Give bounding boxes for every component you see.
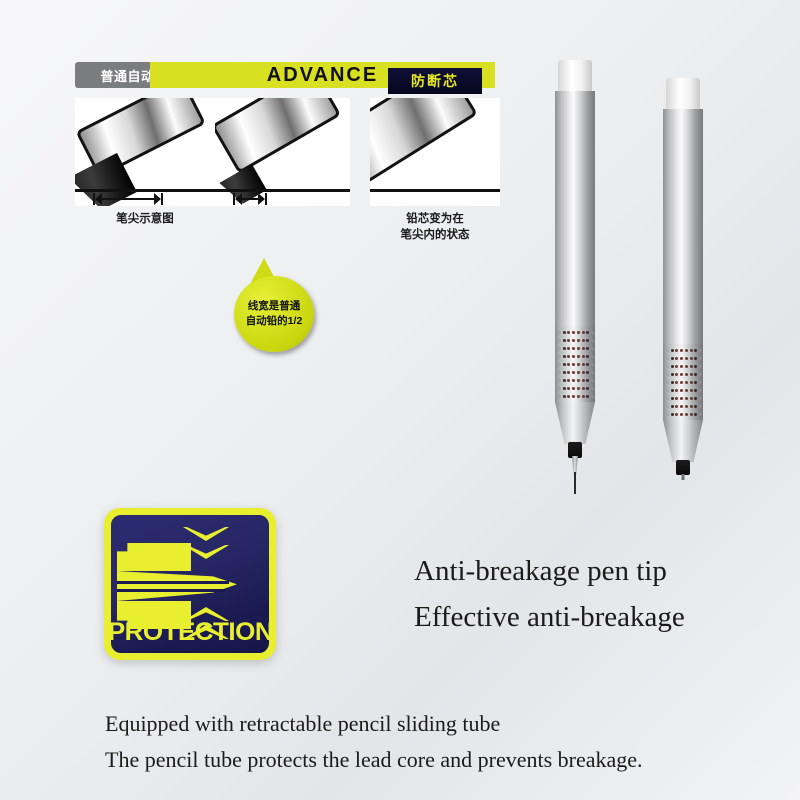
grip-dot [582, 363, 585, 366]
headline-group: Anti-breakage pen tip Effective anti-bre… [414, 548, 685, 641]
baseline-protected [370, 189, 500, 192]
grip-dot [582, 395, 585, 398]
panel-lead-protected: 防断芯 铅芯变为在 笔尖内的状态 [360, 62, 490, 237]
grip-dot [675, 397, 678, 400]
grip-dot [577, 355, 580, 358]
grip-dot [666, 373, 669, 376]
grip-dot [558, 371, 561, 374]
grip-dot [567, 387, 570, 390]
grip-dot [685, 405, 688, 408]
grip-dot [558, 363, 561, 366]
grip-dot [591, 339, 594, 342]
grip-dot [685, 365, 688, 368]
caption-line-2: 笔尖内的状态 [401, 229, 470, 241]
callout-line-1: 线宽是普通 [248, 300, 301, 312]
grip-dot [577, 347, 580, 350]
pen-barrel-upper [663, 109, 703, 344]
grip-dot [690, 357, 693, 360]
protection-badge-inner: PROTECTION [109, 513, 271, 655]
measure-wide [93, 192, 163, 206]
pen-retracted [648, 78, 718, 470]
grip-dot [558, 387, 561, 390]
grip-dot [675, 373, 678, 376]
footer-line-2: The pencil tube protects the lead core a… [105, 742, 643, 778]
grip-dot [591, 379, 594, 382]
arrow-up [618, 392, 656, 462]
grip-dot [563, 339, 566, 342]
panel-artwork-protected [370, 98, 500, 206]
grip-dot [586, 379, 589, 382]
comparison-panels: 普通自动铅笔 笔尖示意图 [75, 62, 495, 237]
grip-dot [680, 405, 683, 408]
grip-dot [572, 331, 575, 334]
grip-dot [586, 387, 589, 390]
grip-dot [675, 381, 678, 384]
grip-dot [591, 347, 594, 350]
grip-dot [680, 413, 683, 416]
grip-dot [563, 395, 566, 398]
grip-dot [666, 389, 669, 392]
pen-barrel-upper [555, 91, 595, 326]
grip-dot [671, 365, 674, 368]
grip-dot [563, 347, 566, 350]
grip-dot [675, 413, 678, 416]
pen-cone [663, 420, 703, 462]
grip-dot [567, 355, 570, 358]
grip-dot [666, 365, 669, 368]
pen-push-cap [666, 78, 700, 110]
grip-dot [563, 387, 566, 390]
grip-dot [694, 397, 697, 400]
grip-dot [666, 397, 669, 400]
headline-2: Effective anti-breakage [414, 594, 685, 640]
arrow-down [508, 392, 546, 462]
grip-dot [586, 347, 589, 350]
grip-dot [577, 371, 580, 374]
grip-dot [558, 379, 561, 382]
grip-dot [671, 397, 674, 400]
grip-dot [680, 365, 683, 368]
grip-dot [694, 365, 697, 368]
grip-dot [685, 389, 688, 392]
grip-dot [699, 397, 702, 400]
grip-dot [558, 339, 561, 342]
grip-dot [694, 413, 697, 416]
panel-artwork-advance [215, 98, 350, 206]
grip-dot [558, 347, 561, 350]
grip-dot [690, 365, 693, 368]
grip-dot [586, 339, 589, 342]
grip-dot [563, 331, 566, 334]
grip-dot [591, 331, 594, 334]
grip-dot [690, 381, 693, 384]
grip-dot [699, 381, 702, 384]
headline-1: Anti-breakage pen tip [414, 548, 685, 594]
grip-dot [558, 395, 561, 398]
grip-dot [675, 365, 678, 368]
grip-dot [563, 371, 566, 374]
grip-dot [699, 389, 702, 392]
grip-dot [685, 413, 688, 416]
grip-dot [671, 381, 674, 384]
pencil-lead [574, 472, 576, 494]
grip-dot [586, 331, 589, 334]
grip-dot [694, 373, 697, 376]
pen-push-cap [558, 60, 592, 92]
footer-line-1: Equipped with retractable pencil sliding… [105, 706, 643, 742]
grip-dot [680, 397, 683, 400]
grip-dot [666, 413, 669, 416]
grip-dot [577, 387, 580, 390]
pen-tip-collar [676, 460, 690, 475]
grip-dot [563, 379, 566, 382]
grip-dot [690, 397, 693, 400]
panel-caption-protected: 铅芯变为在 笔尖内的状态 [370, 212, 500, 243]
grip-dot [690, 413, 693, 416]
grip-dot [582, 331, 585, 334]
grip-dot [591, 355, 594, 358]
grip-dot [567, 339, 570, 342]
pen-grip-dotted [555, 326, 595, 402]
pen-tip-diagram-narrow [215, 98, 350, 192]
grip-dot [685, 381, 688, 384]
grip-dot [666, 405, 669, 408]
pen-tip-collar [568, 442, 582, 458]
grip-dot [671, 413, 674, 416]
grip-dot [685, 357, 688, 360]
callout-line-width: 线宽是普通 自动铅的1/2 [228, 258, 320, 356]
panel-artwork-ordinary [75, 98, 215, 206]
grip-dot [586, 371, 589, 374]
protection-label: PROTECTION [109, 618, 271, 647]
grip-dot [666, 381, 669, 384]
grip-dot [591, 395, 594, 398]
grip-dot [685, 397, 688, 400]
pen-tip-glyph [117, 543, 191, 571]
pen-grip-dotted [663, 344, 703, 420]
grip-dot [582, 355, 585, 358]
grip-dot [694, 381, 697, 384]
panel-advance-tip [215, 62, 350, 237]
pencil-lead [682, 474, 685, 480]
grip-dot [582, 387, 585, 390]
callout-disc: 线宽是普通 自动铅的1/2 [234, 276, 314, 352]
grip-dot [675, 357, 678, 360]
panel-ordinary-pencil: 普通自动铅笔 笔尖示意图 [75, 62, 215, 237]
grip-dot [582, 371, 585, 374]
grip-dot [699, 413, 702, 416]
panel-caption-ordinary: 笔尖示意图 [75, 212, 215, 228]
grip-dot [671, 357, 674, 360]
grip-dot [577, 379, 580, 382]
grip-dot [690, 373, 693, 376]
pen-extended [540, 60, 610, 470]
grip-dot [567, 371, 570, 374]
pen-tip-diagram-wide [75, 98, 215, 192]
grip-dot [675, 405, 678, 408]
grip-dot [558, 355, 561, 358]
grip-dot [572, 347, 575, 350]
measure-narrow [233, 192, 267, 206]
grip-dot [586, 363, 589, 366]
grip-dot [680, 381, 683, 384]
footer-group: Equipped with retractable pencil sliding… [105, 706, 643, 779]
grip-dot [563, 363, 566, 366]
grip-dot [671, 405, 674, 408]
grip-dot [690, 349, 693, 352]
grip-dot [680, 373, 683, 376]
pen-tip-needle [117, 571, 237, 601]
grip-dot [591, 387, 594, 390]
grip-dot [680, 349, 683, 352]
grip-dot [567, 395, 570, 398]
grip-dot [694, 357, 697, 360]
badge-anti-break-lead: 防断芯 [388, 68, 482, 94]
grip-dot [699, 349, 702, 352]
grip-dot [586, 395, 589, 398]
grip-dot [685, 373, 688, 376]
grip-dot [680, 357, 683, 360]
grip-dot [558, 331, 561, 334]
grip-dot [572, 339, 575, 342]
protection-badge: PROTECTION [104, 508, 276, 660]
grip-dot [685, 349, 688, 352]
grip-dot [591, 371, 594, 374]
grip-dot [694, 349, 697, 352]
grip-dot [591, 363, 594, 366]
grip-dot [567, 331, 570, 334]
pen-tip-groove [117, 589, 225, 592]
grip-dot [671, 349, 674, 352]
grip-dot [690, 389, 693, 392]
grip-dot [567, 379, 570, 382]
grip-dot [572, 395, 575, 398]
grip-dot [694, 405, 697, 408]
grip-dot [675, 349, 678, 352]
grip-dot [572, 355, 575, 358]
grip-dot [577, 395, 580, 398]
pen-cone [555, 402, 595, 444]
grip-dot [577, 331, 580, 334]
grip-dot [577, 339, 580, 342]
chevron-down-icon [183, 527, 229, 541]
grip-dot [572, 371, 575, 374]
grip-dot [567, 347, 570, 350]
grip-dot [699, 405, 702, 408]
grip-dot [675, 389, 678, 392]
grip-dot [572, 363, 575, 366]
caption-line-1: 铅芯变为在 [406, 213, 464, 225]
grip-dot [694, 389, 697, 392]
grip-dot [572, 379, 575, 382]
grip-dot [690, 405, 693, 408]
pen-tip-diagram-chrome [370, 98, 500, 192]
grip-dot [563, 355, 566, 358]
grip-dot [586, 355, 589, 358]
grip-dot [680, 389, 683, 392]
callout-line-2: 自动铅的1/2 [246, 315, 303, 327]
grip-dot [699, 357, 702, 360]
grip-dot [666, 357, 669, 360]
pen-tip-groove [117, 581, 229, 584]
caption-line: 笔尖示意图 [116, 213, 174, 225]
grip-dot [699, 373, 702, 376]
grip-dot [577, 363, 580, 366]
grip-dot [572, 387, 575, 390]
grip-dot [699, 365, 702, 368]
grip-dot [582, 347, 585, 350]
grip-dot [582, 379, 585, 382]
grip-dot [582, 339, 585, 342]
grip-dot [671, 373, 674, 376]
grip-dot [671, 389, 674, 392]
grip-dot [567, 363, 570, 366]
grip-dot [666, 349, 669, 352]
